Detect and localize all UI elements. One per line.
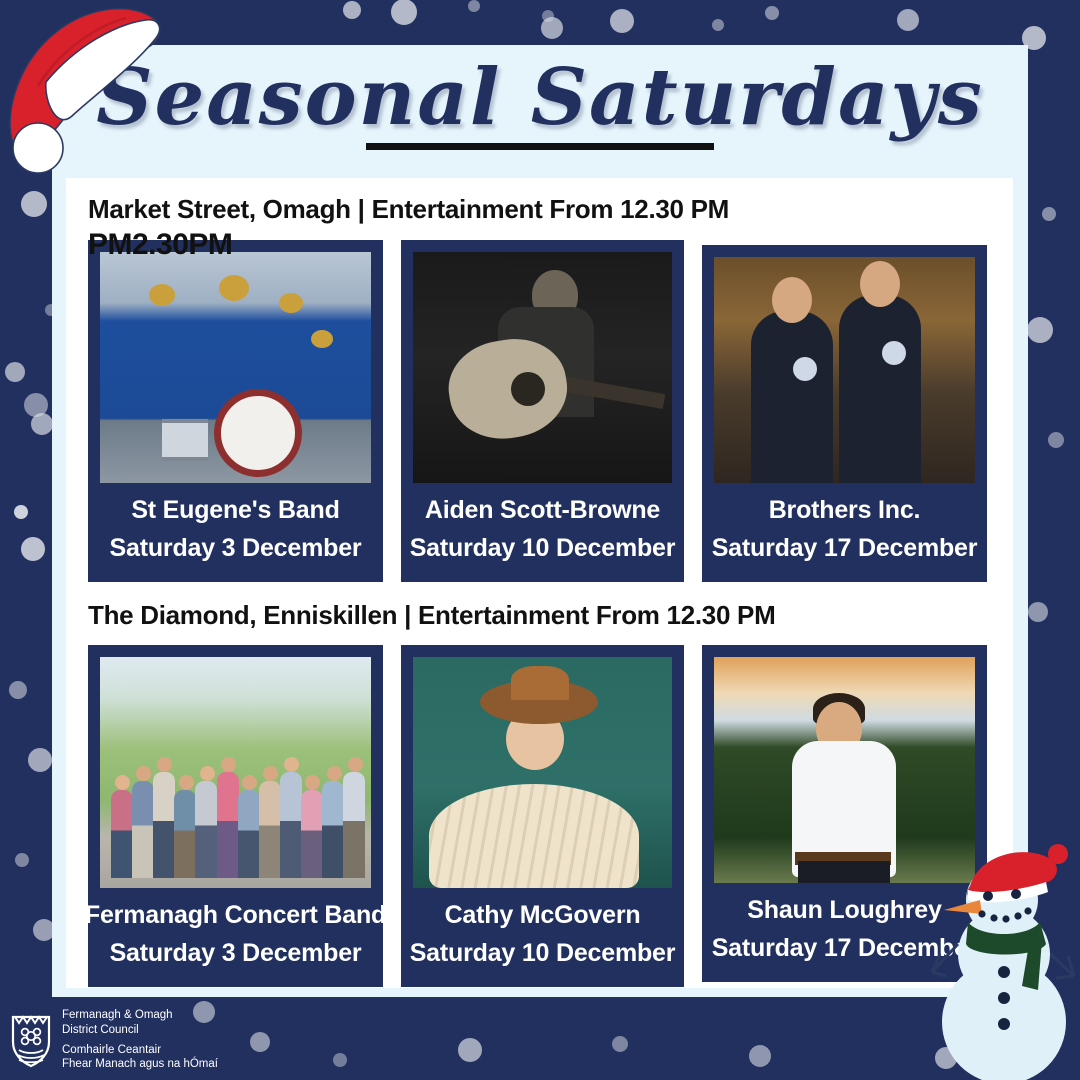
snow-dot [15,853,29,867]
snow-dot [14,505,28,519]
snow-dot [541,17,563,39]
band-member [322,781,344,878]
band-member [153,772,175,878]
snow-dot [5,362,25,382]
band-member-head [348,757,363,772]
band-member-head [157,757,172,772]
snow-dot [21,537,45,561]
event-name: Aiden Scott-Browne [410,491,676,530]
snow-dot [458,1038,482,1062]
band-member [238,790,260,878]
snow-dot [749,1045,771,1067]
snow-dot [610,9,634,33]
overflow-text-artifact: PM2.30PM [88,228,232,262]
snow-dot [897,9,919,31]
band-member-head [115,775,130,790]
snow-dot [1048,432,1064,448]
council-name-en-line1: Fermanagh & Omagh [62,1008,218,1023]
event-name: Brothers Inc. [712,491,978,530]
council-name: Fermanagh & Omagh District Council Comha… [62,1008,218,1072]
event-date: Saturday 3 December [110,529,362,568]
event-name: Cathy McGovern [410,896,676,935]
band-member [174,790,196,878]
band-member-head [136,766,151,781]
event-card[interactable]: Cathy McGovern Saturday 10 December [401,645,684,987]
snow-dot [712,19,724,31]
section-heading-omagh: Market Street, Omagh | Entertainment Fro… [88,194,729,225]
event-card[interactable]: Fermanagh Concert Band Saturday 3 Decemb… [88,645,383,987]
band-member [132,781,154,878]
event-date: Saturday 3 December [85,934,386,973]
band-member-head [305,775,320,790]
event-name: St Eugene's Band [110,491,362,530]
snow-dot [1042,207,1056,221]
band-member [280,772,302,878]
section-heading-enniskillen: The Diamond, Enniskillen | Entertainment… [88,600,775,631]
snow-dot [28,748,52,772]
snow-dot [765,6,779,20]
band-member [301,790,323,878]
snow-dot [612,1036,628,1052]
event-card[interactable]: Brothers Inc. Saturday 17 December [702,245,987,582]
snow-dot [391,0,417,25]
council-logo: Fermanagh & Omagh District Council Comha… [10,1008,218,1072]
event-card-labels: St Eugene's Band Saturday 3 December [110,483,362,583]
band-member-head [327,766,342,781]
band-member-head [263,766,278,781]
snow-dot [1027,317,1053,343]
event-photo-cathy-mcgovern [413,657,672,888]
snow-dot [468,0,480,12]
event-date: Saturday 10 December [410,529,676,568]
santa-hat-icon [0,0,194,180]
council-crest-icon [10,1012,52,1068]
title-underline [366,143,714,150]
snow-dot [333,1053,347,1067]
band-member-head [284,757,299,772]
snow-dot [21,191,47,217]
event-date: Saturday 10 December [410,934,676,973]
snowman-icon [918,826,1080,1080]
band-member [111,790,133,878]
snow-dot [31,413,53,435]
event-card[interactable]: St Eugene's Band Saturday 3 December [88,240,383,582]
council-name-ga-line1: Comhairle Ceantair [62,1043,218,1058]
band-member-head [179,775,194,790]
event-card[interactable]: Aiden Scott-Browne Saturday 10 December [401,240,684,582]
band-member-head [242,775,257,790]
event-photo-aiden-scott-browne [413,252,672,483]
band-member [195,781,217,878]
title-block: Seasonal Saturdays [52,45,1028,178]
snow-dot [250,1032,270,1052]
snow-dot [9,681,27,699]
event-card-labels: Cathy McGovern Saturday 10 December [410,888,676,988]
band-member [259,781,281,878]
band-member [217,772,239,878]
council-name-ga-line2: Fhear Manach agus na hÓmaí [62,1057,218,1072]
event-name: Fermanagh Concert Band [85,896,386,935]
snow-dot [343,1,361,19]
snow-dot [1028,602,1048,622]
event-photo-fermanagh-concert-band [100,657,371,888]
event-card-labels: Fermanagh Concert Band Saturday 3 Decemb… [85,888,386,988]
council-name-en-line2: District Council [62,1023,218,1038]
event-photo-st-eugenes-band [100,252,371,483]
band-member [343,772,365,878]
event-card-labels: Brothers Inc. Saturday 17 December [712,483,978,583]
band-member-head [221,757,236,772]
event-photo-brothers-inc [714,257,975,483]
event-card-labels: Aiden Scott-Browne Saturday 10 December [410,483,676,583]
page-title: Seasonal Saturdays [96,59,984,137]
event-date: Saturday 17 December [712,529,978,568]
poster-root: Seasonal Saturdays Market Street, Omagh … [0,0,1080,1080]
band-member-head [200,766,215,781]
